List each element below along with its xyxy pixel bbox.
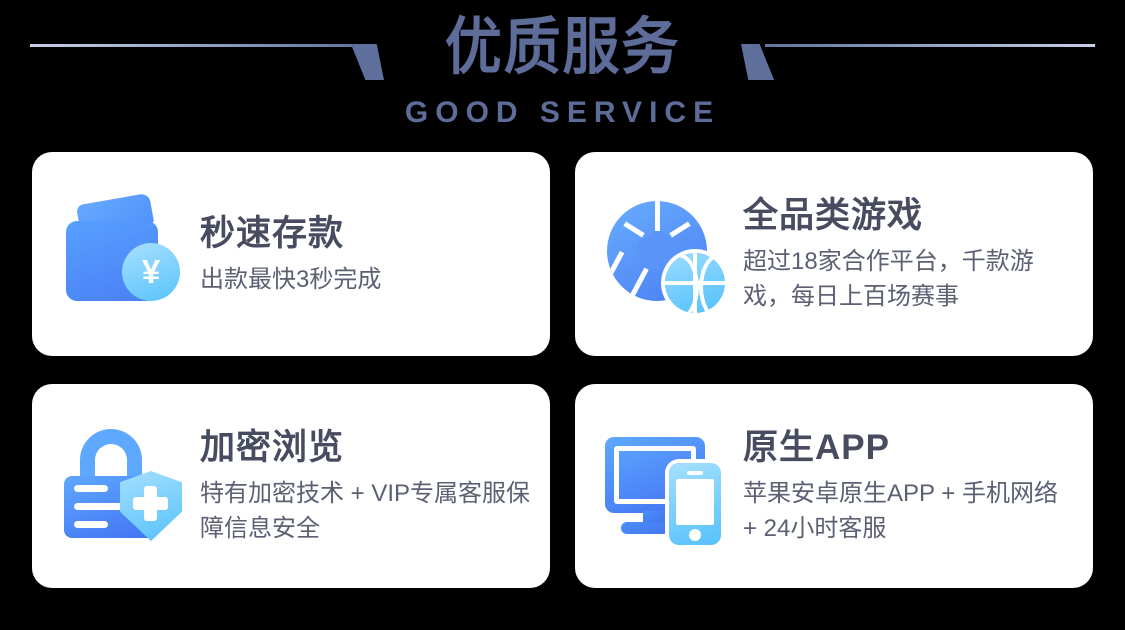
lock-stripe (74, 485, 108, 492)
service-card-games[interactable]: 全品类游戏 超过18家合作平台，千款游戏，每日上百场赛事 (575, 152, 1093, 356)
soccer-seam (669, 222, 690, 238)
soccer-seam (623, 222, 644, 238)
page-title: 优质服务 (45, 8, 1080, 88)
card-text-block: 全品类游戏 超过18家合作平台，千款游戏，每日上百场赛事 (743, 194, 1075, 314)
card-title: 加密浏览 (200, 426, 532, 470)
card-text-block: 原生APP 苹果安卓原生APP + 手机网络 + 24小时客服 (743, 426, 1075, 546)
soccer-ball-icon (603, 191, 729, 317)
card-subtitle: 出款最快3秒完成 (200, 262, 532, 297)
card-subtitle: 超过18家合作平台，千款游戏，每日上百场赛事 (743, 244, 1075, 314)
phone-home-button (689, 529, 701, 541)
wallet-icon: ¥ (60, 191, 186, 317)
card-text-block: 加密浏览 特有加密技术 + VIP专属客服保障信息安全 (200, 426, 532, 546)
card-title: 全品类游戏 (743, 194, 1075, 238)
card-subtitle: 苹果安卓原生APP + 手机网络 + 24小时客服 (743, 476, 1075, 546)
soccer-seam (655, 201, 660, 231)
basketball-arc (699, 253, 725, 313)
phone-screen (676, 479, 714, 525)
soccer-seam (630, 268, 648, 297)
service-card-deposit[interactable]: ¥ 秒速存款 出款最快3秒完成 (32, 152, 550, 356)
service-card-native-app[interactable]: 原生APP 苹果安卓原生APP + 手机网络 + 24小时客服 (575, 384, 1093, 588)
yuan-coin-icon: ¥ (122, 243, 180, 301)
monitor-phone-icon (603, 423, 729, 549)
lock-stripe (74, 521, 108, 528)
lock-shield-icon (60, 423, 186, 549)
page-subtitle: GOOD SERVICE (0, 96, 1125, 130)
page-header: 优质服务 GOOD SERVICE (0, 0, 1125, 145)
soccer-seam (608, 251, 625, 276)
lock-stripe (74, 503, 124, 510)
card-title: 秒速存款 (200, 212, 532, 256)
card-title: 原生APP (743, 426, 1075, 470)
card-subtitle: 特有加密技术 + VIP专属客服保障信息安全 (200, 476, 532, 546)
card-text-block: 秒速存款 出款最快3秒完成 (200, 212, 532, 297)
basketball-shape (665, 253, 725, 313)
shield-plus-icon (133, 497, 168, 510)
phone-speaker (687, 471, 703, 475)
service-card-grid: ¥ 秒速存款 出款最快3秒完成 (32, 152, 1093, 588)
service-card-encryption[interactable]: 加密浏览 特有加密技术 + VIP专属客服保障信息安全 (32, 384, 550, 588)
smartphone-shape (669, 463, 721, 545)
